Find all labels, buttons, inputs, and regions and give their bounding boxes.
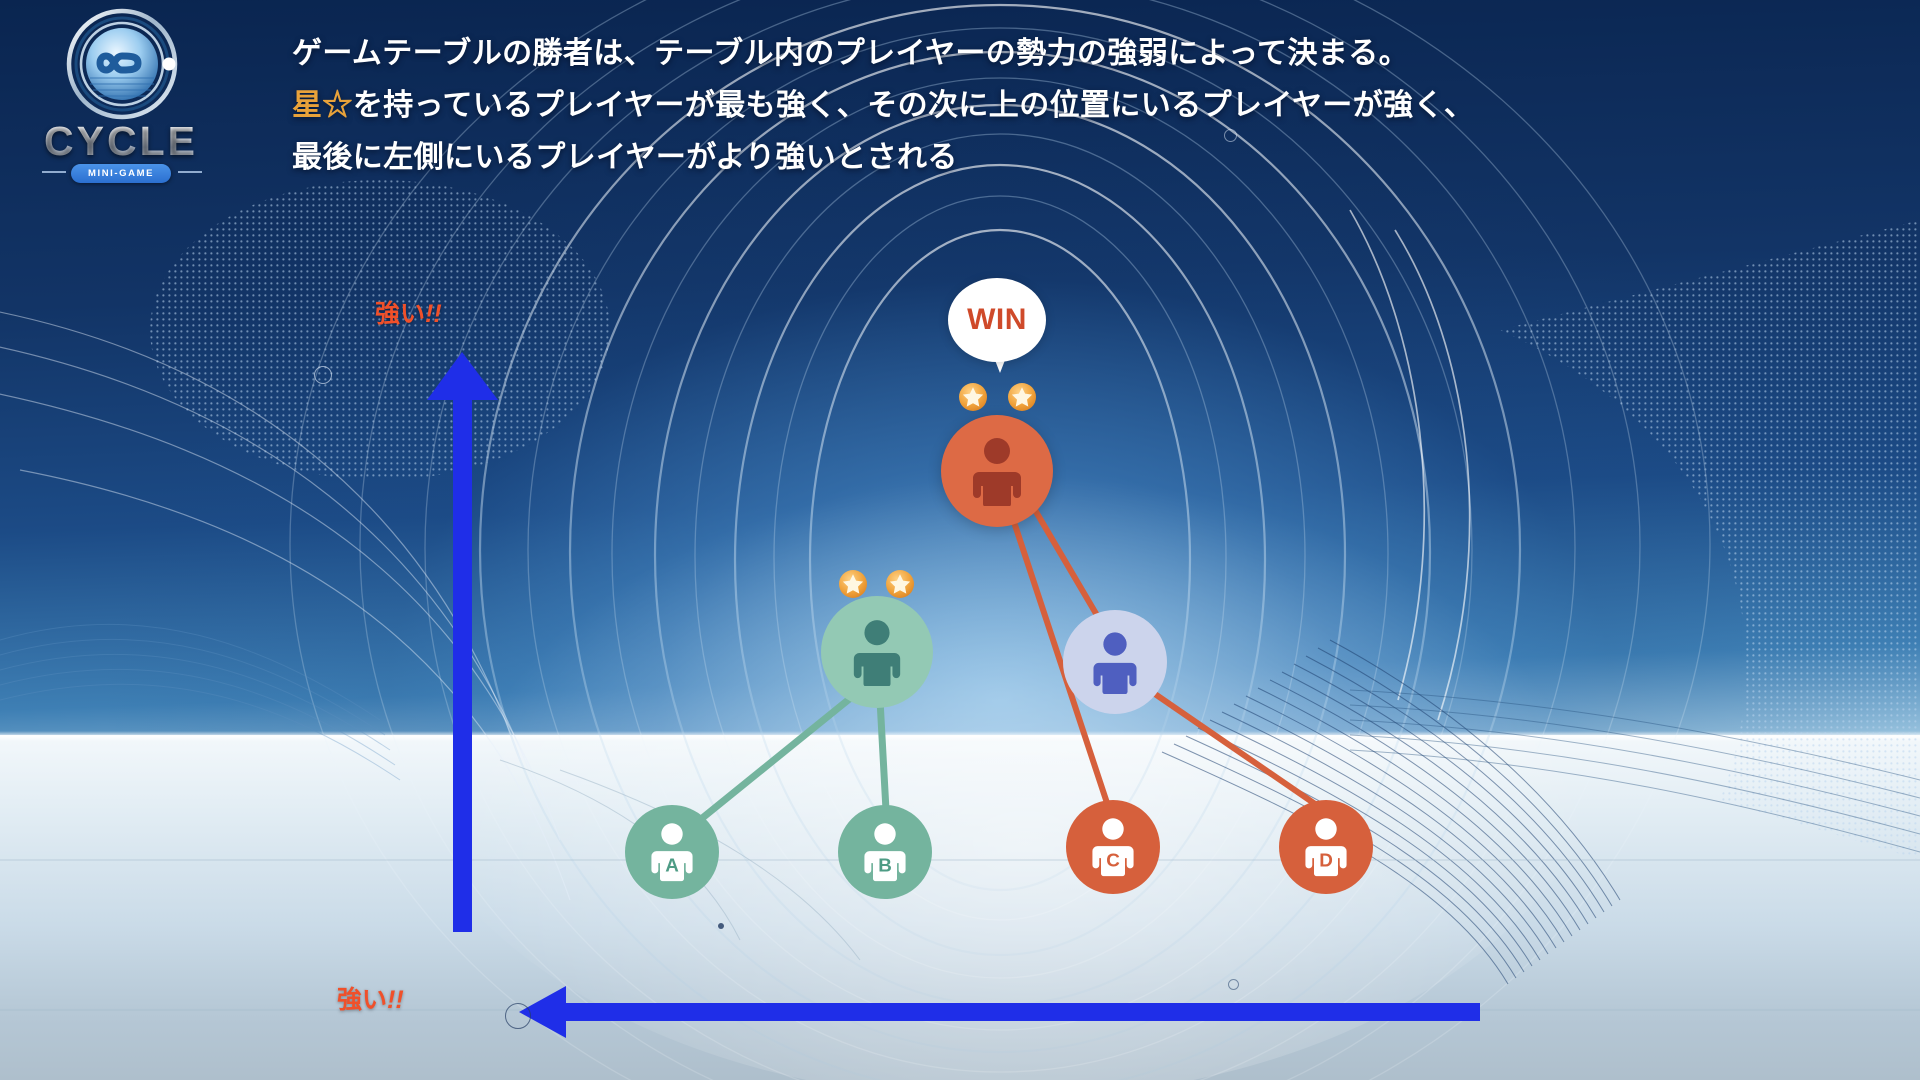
horizontal-axis-label-text: 強い	[337, 986, 387, 1014]
logo[interactable]: CYCLE MINI-GAME	[22, 6, 220, 196]
star-icon	[1007, 382, 1037, 412]
logo-dash-left	[42, 171, 66, 173]
logo-badge: MINI-GAME	[71, 164, 171, 183]
star-icon	[958, 382, 988, 412]
vertical-axis-label: 強い!!	[375, 294, 442, 330]
win-bubble-label: WIN	[967, 303, 1027, 337]
heading-line-3: 最後に左側にいるプレイヤーがより強いとされる	[292, 132, 1712, 184]
heading-line-2: 星☆を持っているプレイヤーが最も強く、その次に上の位置にいるプレイヤーが強く、	[292, 80, 1712, 132]
star-icon	[838, 569, 868, 599]
node-player-a[interactable]: A	[625, 805, 719, 899]
heading-star-highlight: 星☆	[292, 89, 353, 122]
node-player-c-label: C	[1106, 850, 1120, 871]
horizontal-axis-label: 強い!!	[337, 980, 404, 1016]
horizontal-axis-label-bang: !!	[387, 986, 404, 1014]
star-icon	[885, 569, 915, 599]
vertical-axis-label-bang: !!	[425, 300, 442, 328]
node-winner[interactable]	[941, 415, 1053, 527]
person-icon	[1089, 630, 1141, 694]
node-purple-parent[interactable]	[1063, 610, 1167, 714]
logo-wordmark: CYCLE	[22, 118, 220, 165]
vertical-axis-label-text: 強い	[375, 300, 425, 328]
infinity-icon	[66, 8, 178, 120]
person-icon: A	[647, 822, 697, 882]
person-icon	[849, 618, 905, 686]
slide-canvas: CYCLE MINI-GAME ゲームテーブルの勝者は、テーブル内のプレイヤーの…	[0, 0, 1920, 1080]
heading-line-2-rest: を持っているプレイヤーが最も強く、その次に上の位置にいるプレイヤーが強く、	[353, 89, 1475, 122]
decorative-ring-icon	[505, 1003, 531, 1029]
person-icon: D	[1301, 817, 1351, 877]
node-green-parent[interactable]	[821, 596, 933, 708]
node-player-b-label: B	[878, 855, 892, 876]
node-player-b[interactable]: B	[838, 805, 932, 899]
decorative-ring-icon	[314, 366, 332, 384]
logo-dash-right	[178, 171, 202, 173]
person-icon: C	[1088, 817, 1138, 877]
decorative-ring-icon	[1228, 979, 1239, 990]
heading-line-1: ゲームテーブルの勝者は、テーブル内のプレイヤーの勢力の強弱によって決まる。	[292, 28, 1712, 80]
decorative-dot-icon	[718, 923, 724, 929]
page-title: ゲームテーブルの勝者は、テーブル内のプレイヤーの勢力の強弱によって決まる。 星☆…	[292, 28, 1712, 184]
node-player-d-label: D	[1319, 850, 1333, 871]
person-icon: B	[860, 822, 910, 882]
node-player-d[interactable]: D	[1279, 800, 1373, 894]
node-player-a-label: A	[665, 855, 679, 876]
node-player-c[interactable]: C	[1066, 800, 1160, 894]
person-icon	[968, 436, 1026, 506]
win-bubble: WIN	[948, 278, 1046, 362]
